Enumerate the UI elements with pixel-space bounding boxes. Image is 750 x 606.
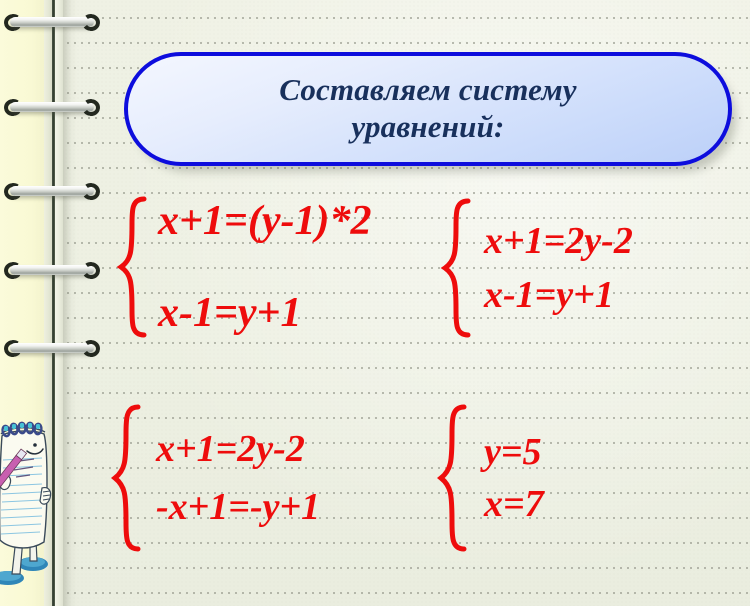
equation-list: x+1=2y-2 -x+1=-y+1	[142, 427, 320, 529]
ring-cap-right	[81, 261, 101, 280]
ring-cap-right	[81, 339, 101, 358]
rule-line	[60, 367, 750, 369]
rule-line	[60, 42, 750, 44]
rule-line	[60, 567, 750, 569]
equation: x-1=y+1	[158, 289, 371, 337]
equation-list: x+1=2y-2 x-1=y+1	[472, 219, 633, 317]
equation-list: x+1=(y-1)*2 x-1=y+1	[148, 197, 371, 337]
page-title: Составляем систему уравнений:	[251, 72, 605, 145]
equation-system-4: y=5 x=7	[438, 404, 688, 552]
spine-shadow	[63, 0, 77, 606]
equation: x+1=2y-2	[156, 427, 320, 471]
left-curly-brace-icon	[438, 404, 468, 552]
binder-ring-icon	[4, 99, 100, 116]
page-title-line-2: уравнений:	[351, 109, 504, 144]
binder-ring-icon	[4, 183, 100, 200]
equation-system-1: x+1=(y-1)*2 x-1=y+1	[118, 196, 438, 338]
equation-list: y=5 x=7	[468, 430, 544, 526]
rule-line	[60, 342, 750, 344]
binder-ring-icon	[4, 340, 100, 357]
equation: x=7	[484, 482, 544, 526]
title-banner: Составляем систему уравнений:	[124, 52, 732, 166]
slide-canvas: Составляем систему уравнений: x+1=(y-1)*…	[0, 0, 750, 606]
left-curly-brace-icon	[442, 198, 472, 338]
rule-line	[60, 17, 750, 19]
ring-cap-right	[81, 98, 101, 117]
equation: x+1=(y-1)*2	[158, 197, 371, 245]
binder-ring-icon	[4, 14, 100, 31]
ring-cap-right	[81, 182, 101, 201]
rule-line	[60, 392, 750, 394]
equation: y=5	[484, 430, 544, 474]
notepad-character-icon	[0, 414, 60, 590]
ring-cap-right	[81, 13, 101, 32]
equation: x-1=y+1	[484, 273, 633, 317]
left-curly-brace-icon	[118, 196, 148, 338]
page-title-line-1: Составляем систему	[279, 72, 577, 107]
rule-line	[60, 167, 750, 169]
equation-system-3: x+1=2y-2 -x+1=-y+1	[112, 404, 442, 552]
rule-line	[60, 592, 750, 594]
equation-system-2: x+1=2y-2 x-1=y+1	[442, 198, 742, 338]
left-curly-brace-icon	[112, 404, 142, 552]
rule-line	[60, 192, 750, 194]
equation: x+1=2y-2	[484, 219, 633, 263]
equation: -x+1=-y+1	[156, 485, 320, 529]
binder-ring-icon	[4, 262, 100, 279]
